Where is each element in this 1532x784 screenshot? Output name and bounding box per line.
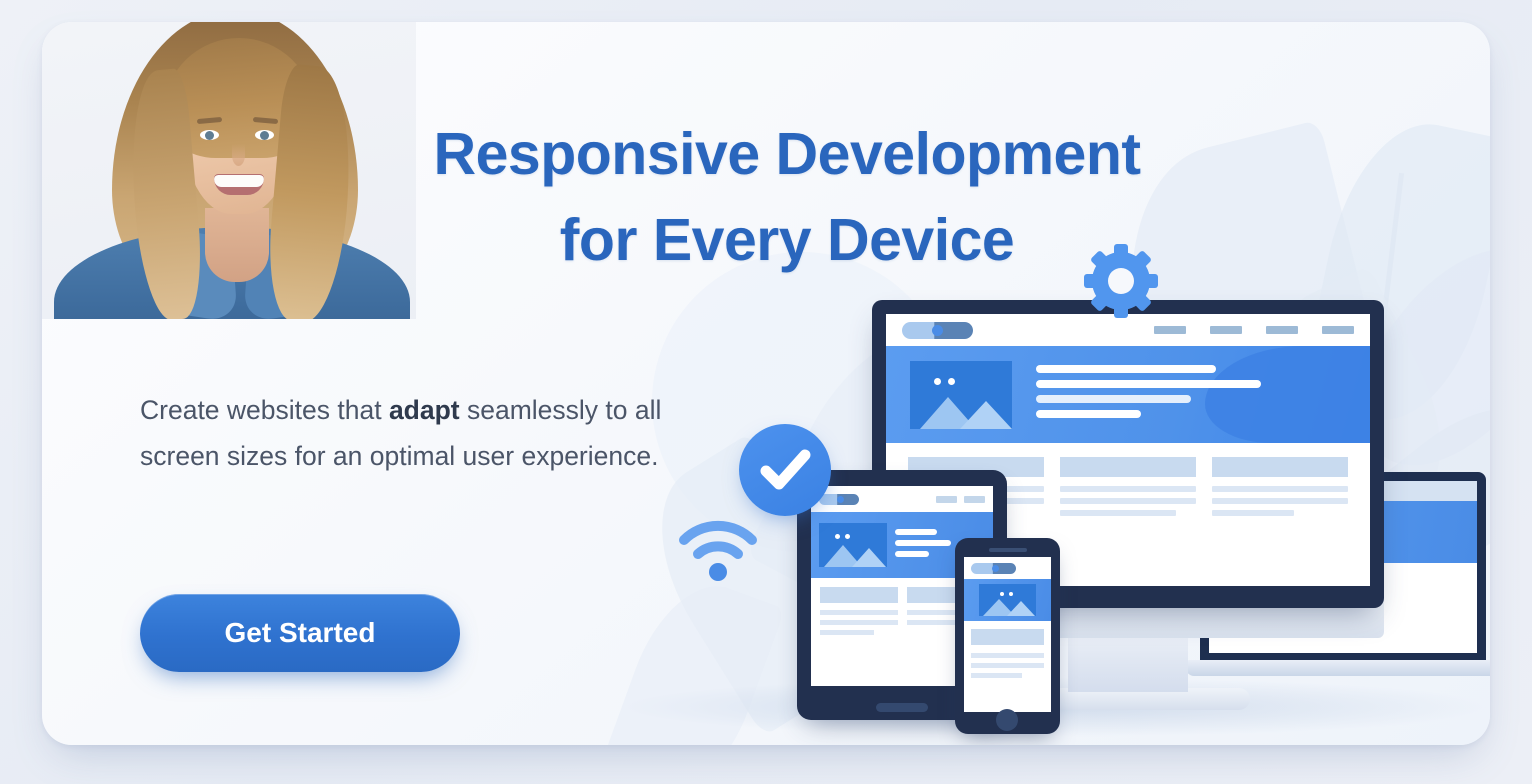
wireframe-navbar	[811, 486, 993, 512]
wireframe-block	[1212, 457, 1348, 477]
image-dot	[948, 378, 955, 385]
wireframe-nav-link	[1266, 326, 1298, 334]
wireframe-line	[1036, 395, 1191, 403]
body-text-pre: Create websites that	[140, 395, 389, 425]
wireframe-block	[1060, 457, 1196, 477]
image-mountain	[852, 548, 886, 567]
image-dot	[845, 534, 850, 539]
photo-mouth	[214, 174, 264, 195]
wireframe-block	[971, 629, 1044, 645]
wireframe-hero	[964, 579, 1051, 621]
wireframe-line	[1060, 510, 1176, 516]
wireframe-line	[1036, 410, 1141, 418]
image-mountain	[960, 401, 1012, 429]
headline-line-1: Responsive Development	[433, 121, 1140, 187]
get-started-button[interactable]: Get Started	[140, 594, 460, 672]
wireframe-line	[1212, 486, 1348, 492]
page-title: Responsive Development for Every Device	[372, 112, 1202, 283]
wireframe-image-placeholder	[819, 523, 887, 567]
wireframe-line	[1036, 365, 1216, 373]
wireframe-nav-link	[936, 496, 957, 503]
tablet-home-indicator	[876, 703, 928, 712]
hero-body-text: Create websites that adapt seamlessly to…	[140, 388, 720, 479]
wireframe-column	[1060, 457, 1196, 522]
wireframe-nav-link	[1322, 326, 1354, 334]
wireframe-logo	[902, 322, 973, 339]
wireframe-line	[895, 529, 937, 535]
wireframe-line	[1036, 380, 1261, 388]
wireframe-image-placeholder	[910, 361, 1012, 429]
wireframe-hero-text	[1036, 365, 1261, 425]
wireframe-line	[895, 551, 929, 557]
wireframe-block	[820, 587, 898, 603]
wireframe-navbar	[886, 314, 1370, 346]
body-text-emphasis: adapt	[389, 395, 460, 425]
wireframe-line	[1060, 486, 1196, 492]
image-mountain	[1007, 601, 1035, 616]
wireframe-line	[971, 653, 1044, 658]
avatar	[42, 22, 416, 319]
photo-neck	[205, 208, 269, 282]
photo-iris	[260, 131, 269, 140]
wireframe-line	[971, 673, 1022, 678]
wireframe-nav-link	[1154, 326, 1186, 334]
phone-home-button	[996, 709, 1018, 731]
wireframe-line	[820, 610, 898, 615]
photo-nose	[232, 144, 245, 166]
wireframe-image-placeholder	[979, 584, 1036, 616]
wireframe-line	[1060, 498, 1196, 504]
phone-screen	[964, 557, 1051, 712]
check-badge-icon	[739, 424, 831, 516]
smartphone-device	[955, 538, 1060, 734]
image-dot	[835, 534, 840, 539]
wireframe-line	[895, 540, 951, 546]
wireframe-line	[1212, 498, 1348, 504]
hero-card: Responsive Development for Every Device …	[42, 22, 1490, 745]
phone-speaker	[989, 548, 1027, 552]
wireframe-hero	[886, 346, 1370, 443]
wireframe-content	[964, 621, 1051, 691]
image-dot	[1000, 592, 1004, 596]
photo-iris	[205, 131, 214, 140]
headline-line-2: for Every Device	[560, 207, 1014, 273]
wireframe-nav-links	[936, 496, 985, 503]
photo-teeth	[214, 175, 264, 187]
wireframe-nav-link	[1210, 326, 1242, 334]
image-dot	[934, 378, 941, 385]
monitor-neck	[1068, 636, 1188, 692]
wireframe-line	[820, 620, 898, 625]
wireframe-navbar	[964, 557, 1051, 579]
wireframe-nav-link	[964, 496, 985, 503]
wireframe-hero-text	[895, 529, 951, 562]
wireframe-line	[820, 630, 874, 635]
wifi-icon	[678, 520, 758, 582]
wireframe-column	[820, 587, 898, 640]
wireframe-line	[1212, 510, 1294, 516]
wireframe-logo	[971, 563, 1016, 574]
wireframe-nav-links	[1154, 326, 1354, 334]
wireframe-line	[971, 663, 1044, 668]
image-dot	[1009, 592, 1013, 596]
wireframe-column	[1212, 457, 1348, 522]
